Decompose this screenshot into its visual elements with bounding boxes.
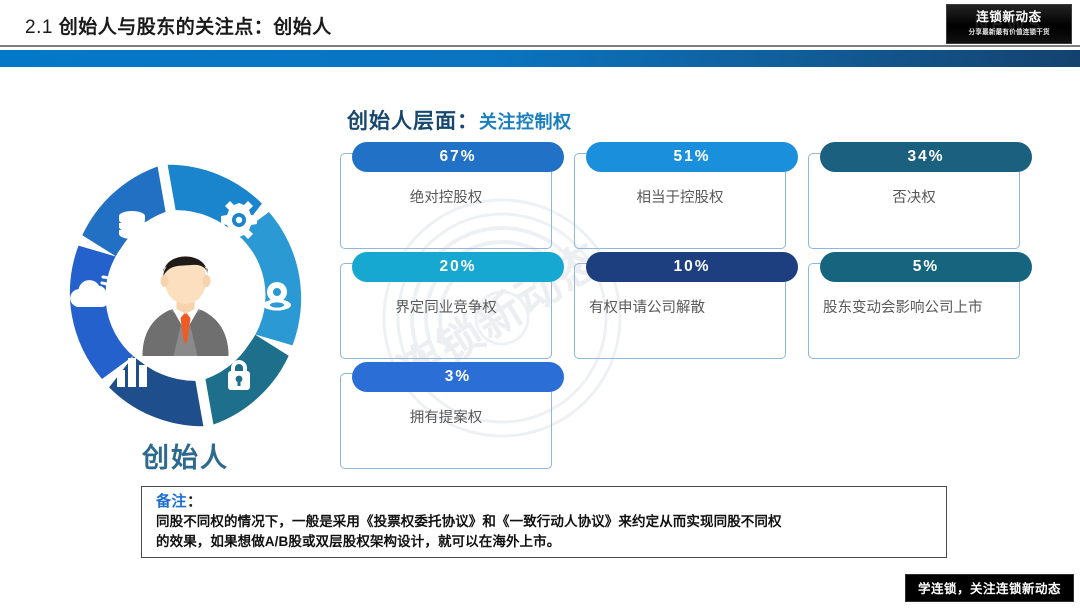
page-title-number: 2.1 xyxy=(25,17,59,38)
card-badge-percent: 5% xyxy=(820,252,1032,282)
card-label: 绝对控股权 xyxy=(341,188,551,209)
control-threshold-grid: 67% 绝对控股权 51% 相当于控股权 34% 否决权 20% 界定同业竞争权… xyxy=(340,153,1030,483)
threshold-card-10[interactable]: 10% 有权申请公司解散 xyxy=(574,263,786,359)
gear-icon xyxy=(221,201,257,239)
slide-canvas: 2.1 创始人与股东的关注点：创始人 NEWS 连锁新动态 分享最新最有价值连锁… xyxy=(0,0,1080,608)
card-label: 相当于控股权 xyxy=(575,188,785,209)
card-badge-percent: 51% xyxy=(586,142,798,172)
note-box: 备注： 同股不同权的情况下，一般是采用《投票权委托协议》和《一致行动人协议》来约… xyxy=(141,486,947,558)
note-title-text: 备注 xyxy=(156,493,187,510)
card-badge-percent: 20% xyxy=(352,252,564,282)
footer-tagline: 学连锁，关注连锁新动态 xyxy=(905,574,1074,602)
note-title: 备注： xyxy=(156,493,934,511)
card-label: 否决权 xyxy=(809,188,1019,209)
note-title-colon: ： xyxy=(187,493,203,510)
threshold-card-51[interactable]: 51% 相当于控股权 xyxy=(574,153,786,249)
note-line-1: 同股不同权的情况下，一般是采用《投票权委托协议》和《一致行动人协议》来约定从而实… xyxy=(156,512,934,532)
page-title-text: 创始人与股东的关注点：创始人 xyxy=(59,17,332,38)
brand-logo-tagline: 分享最新最有价值连锁干货 xyxy=(968,27,1049,36)
card-label: 拥有提案权 xyxy=(341,408,551,429)
threshold-card-3[interactable]: 3% 拥有提案权 xyxy=(340,373,552,469)
page-title: 2.1 创始人与股东的关注点：创始人 xyxy=(25,12,332,39)
founder-label: 创始人 xyxy=(48,436,323,475)
card-badge-percent: 34% xyxy=(820,142,1032,172)
header-divider-rule xyxy=(0,45,1080,47)
section-heading: 创始人层面：关注控制权 xyxy=(347,105,572,135)
card-row-1: 67% 绝对控股权 51% 相当于控股权 34% 否决权 xyxy=(340,153,1030,249)
card-label: 股东变动会影响公司上市 xyxy=(809,298,1019,319)
card-badge-percent: 10% xyxy=(586,252,798,282)
founder-donut-diagram xyxy=(48,158,323,433)
card-row-3: 3% 拥有提案权 xyxy=(340,373,1030,469)
card-badge-percent: 67% xyxy=(352,142,564,172)
card-badge-percent: 3% xyxy=(352,362,564,392)
card-label: 有权申请公司解散 xyxy=(575,298,785,319)
threshold-card-34[interactable]: 34% 否决权 xyxy=(808,153,1020,249)
section-heading-secondary: 关注控制权 xyxy=(479,112,572,132)
threshold-card-20[interactable]: 20% 界定同业竞争权 xyxy=(340,263,552,359)
card-row-2: 20% 界定同业竞争权 10% 有权申请公司解散 5% 股东变动会影响公司上市 xyxy=(340,263,1030,359)
card-label: 界定同业竞争权 xyxy=(341,298,551,319)
section-heading-primary: 创始人层面： xyxy=(347,110,479,133)
brand-logo-title: 连锁新动态 xyxy=(976,11,1042,24)
threshold-card-5[interactable]: 5% 股东变动会影响公司上市 xyxy=(808,263,1020,359)
brand-logo: NEWS 连锁新动态 分享最新最有价值连锁干货 xyxy=(946,4,1072,44)
threshold-card-67[interactable]: 67% 绝对控股权 xyxy=(340,153,552,249)
header-accent-bar xyxy=(0,50,1080,67)
note-line-2: 的效果，如果想做A/B股或双层股权架构设计，就可以在海外上市。 xyxy=(156,532,934,552)
